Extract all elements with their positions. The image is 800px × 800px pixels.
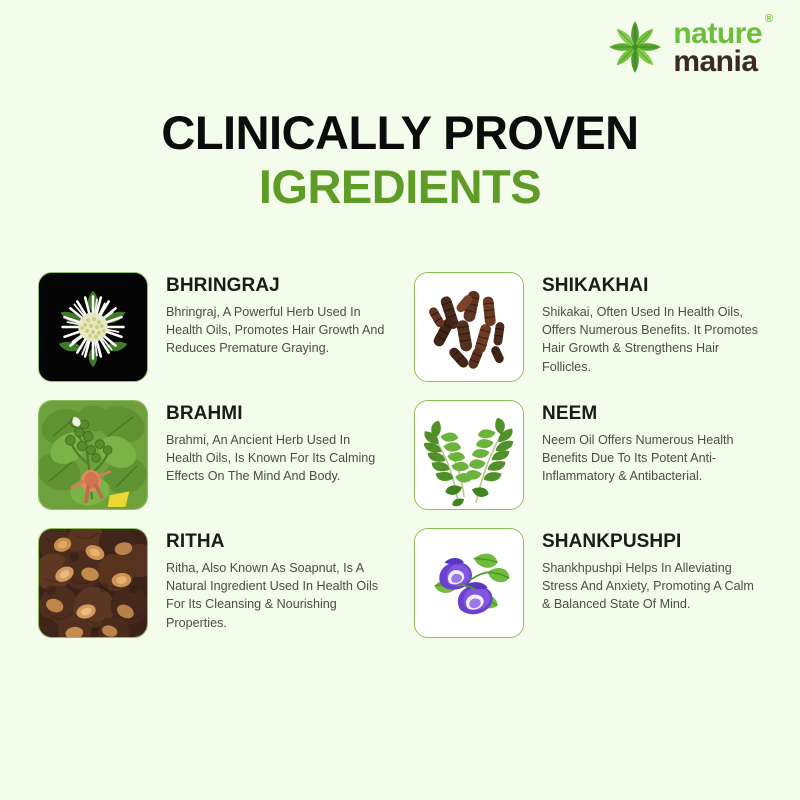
ingredient-description: Brahmi, An Ancient Herb Used In Health O… [166, 431, 386, 486]
ingredient-image-shankpushpi [414, 528, 524, 638]
ingredient-card-neem: NEEM Neem Oil Offers Numerous Health Ben… [414, 400, 762, 520]
ingredient-card-ritha: RITHA Ritha, Also Known As Soapnut, Is A… [38, 528, 386, 648]
brand-name-top: nature [673, 20, 762, 48]
ingredient-text-bhringraj: BHRINGRAJ Bhringraj, A Powerful Herb Use… [166, 272, 386, 358]
ingredient-text-brahmi: BRAHMI Brahmi, An Ancient Herb Used In H… [166, 400, 386, 486]
ingredient-description: Shankhpushpi Helps In Alleviating Stress… [542, 559, 762, 614]
ingredient-description: Ritha, Also Known As Soapnut, Is A Natur… [166, 559, 386, 632]
ingredient-name: BRAHMI [166, 404, 386, 424]
ingredient-name: RITHA [166, 532, 386, 552]
brand-logo: nature mania ® [607, 18, 762, 75]
ingredient-description: Bhringraj, A Powerful Herb Used In Healt… [166, 303, 386, 358]
ingredient-name: BHRINGRAJ [166, 276, 386, 296]
ingredient-description: Neem Oil Offers Numerous Health Benefits… [542, 431, 762, 486]
ingredient-text-shankpushpi: SHANKPUSHPI Shankhpushpi Helps In Allevi… [542, 528, 762, 614]
ingredient-image-brahmi [38, 400, 148, 510]
leaf-rosette-icon [607, 19, 663, 75]
ingredient-image-bhringraj [38, 272, 148, 382]
ingredient-image-ritha [38, 528, 148, 638]
ingredient-name: SHIKAKHAI [542, 276, 762, 296]
page-title: CLINICALLY PROVEN IGREDIENTS [0, 108, 800, 214]
page-title-line-1: CLINICALLY PROVEN [0, 108, 800, 159]
ingredient-card-shikakhai: SHIKAKHAI Shikakai, Often Used In Health… [414, 272, 762, 392]
ingredient-card-bhringraj: BHRINGRAJ Bhringraj, A Powerful Herb Use… [38, 272, 386, 392]
brand-wordmark: nature mania ® [673, 18, 762, 75]
ingredient-description: Shikakai, Often Used In Health Oils, Off… [542, 303, 762, 376]
ingredient-image-neem [414, 400, 524, 510]
ingredient-card-brahmi: BRAHMI Brahmi, An Ancient Herb Used In H… [38, 400, 386, 520]
ingredient-name: NEEM [542, 404, 762, 424]
registered-trademark-icon: ® [765, 14, 773, 24]
ingredient-text-shikakhai: SHIKAKHAI Shikakai, Often Used In Health… [542, 272, 762, 376]
page-title-line-2: IGREDIENTS [0, 159, 800, 214]
ingredient-grid: BHRINGRAJ Bhringraj, A Powerful Herb Use… [38, 272, 762, 648]
brand-name-bottom: mania [673, 48, 762, 76]
ingredient-name: SHANKPUSHPI [542, 532, 762, 552]
ingredient-image-shikakhai [414, 272, 524, 382]
ingredient-text-ritha: RITHA Ritha, Also Known As Soapnut, Is A… [166, 528, 386, 632]
ingredient-card-shankpushpi: SHANKPUSHPI Shankhpushpi Helps In Allevi… [414, 528, 762, 648]
ingredient-text-neem: NEEM Neem Oil Offers Numerous Health Ben… [542, 400, 762, 486]
